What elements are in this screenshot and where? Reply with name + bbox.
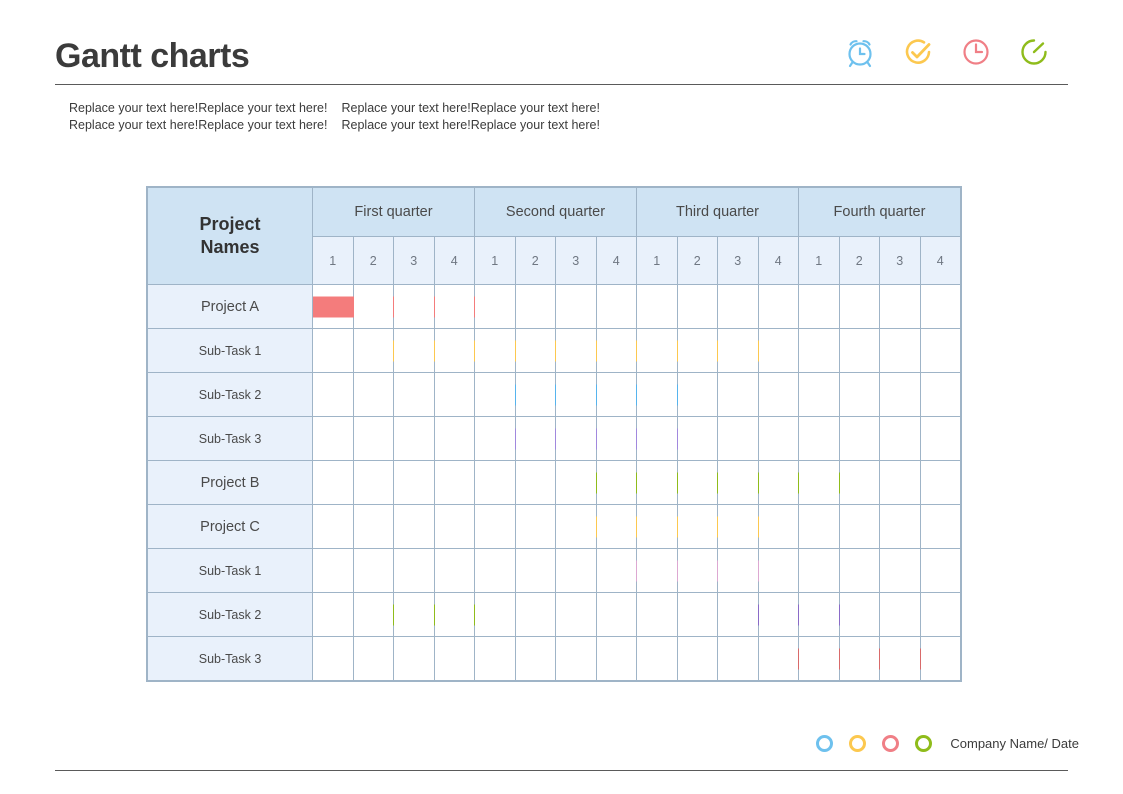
gantt-row: Sub-Task 3 bbox=[148, 417, 961, 461]
quarter-header-row: Project Names First quarter Second quart… bbox=[148, 188, 961, 237]
gantt-cell bbox=[880, 637, 921, 681]
gantt-row: Project A bbox=[148, 285, 961, 329]
gantt-cell bbox=[758, 637, 799, 681]
gantt-cell bbox=[434, 461, 475, 505]
intro-text-block: Replace your text here!Replace your text… bbox=[69, 100, 600, 133]
gantt-cell bbox=[353, 505, 394, 549]
gantt-cell bbox=[758, 549, 799, 593]
gantt-cell bbox=[434, 593, 475, 637]
gantt-cell bbox=[637, 329, 678, 373]
gantt-cell bbox=[839, 593, 880, 637]
gantt-cell bbox=[758, 417, 799, 461]
gantt-cell bbox=[475, 373, 516, 417]
gantt-cell bbox=[920, 329, 961, 373]
gantt-table-body: Project ASub-Task 1Sub-Task 2Sub-Task 3P… bbox=[148, 285, 961, 681]
gantt-cell bbox=[353, 285, 394, 329]
period-header-q4-1: 1 bbox=[799, 237, 840, 285]
gantt-row: Sub-Task 2 bbox=[148, 593, 961, 637]
gantt-cell bbox=[394, 505, 435, 549]
gantt-cell bbox=[839, 373, 880, 417]
gantt-cell bbox=[475, 637, 516, 681]
gantt-row: Project C bbox=[148, 505, 961, 549]
gantt-row-label: Sub-Task 2 bbox=[148, 373, 313, 417]
gantt-cell bbox=[353, 549, 394, 593]
gantt-cell bbox=[839, 505, 880, 549]
gantt-cell bbox=[677, 417, 718, 461]
gantt-cell bbox=[799, 549, 840, 593]
gantt-cell bbox=[758, 593, 799, 637]
gantt-cell bbox=[313, 637, 354, 681]
gantt-cell bbox=[880, 329, 921, 373]
gantt-cell bbox=[556, 461, 597, 505]
gantt-cell bbox=[556, 593, 597, 637]
gantt-cell bbox=[799, 417, 840, 461]
period-header-q2-2: 2 bbox=[515, 237, 556, 285]
gantt-row-label: Project A bbox=[148, 285, 313, 329]
intro-line: Replace your text here!Replace your text… bbox=[341, 117, 599, 134]
gantt-cell bbox=[556, 637, 597, 681]
check-circle-icon bbox=[902, 36, 934, 68]
gantt-cell bbox=[475, 329, 516, 373]
gantt-cell bbox=[718, 329, 759, 373]
gantt-cell bbox=[353, 637, 394, 681]
gantt-cell bbox=[637, 461, 678, 505]
gantt-cell bbox=[880, 505, 921, 549]
gantt-cell bbox=[799, 285, 840, 329]
gantt-cell bbox=[718, 417, 759, 461]
gantt-cell bbox=[394, 417, 435, 461]
gantt-cell bbox=[394, 461, 435, 505]
gantt-cell bbox=[394, 637, 435, 681]
gantt-cell bbox=[920, 285, 961, 329]
header-icon-group bbox=[844, 36, 1050, 68]
period-header-q1-3: 3 bbox=[394, 237, 435, 285]
gantt-cell bbox=[637, 417, 678, 461]
gantt-cell bbox=[920, 637, 961, 681]
intro-line: Replace your text here!Replace your text… bbox=[341, 100, 599, 117]
gantt-cell bbox=[839, 329, 880, 373]
gantt-cell bbox=[434, 505, 475, 549]
gantt-cell bbox=[637, 549, 678, 593]
gantt-row: Project B bbox=[148, 461, 961, 505]
gantt-row-label: Sub-Task 3 bbox=[148, 637, 313, 681]
gantt-row: Sub-Task 1 bbox=[148, 329, 961, 373]
gantt-cell bbox=[475, 505, 516, 549]
footer-divider bbox=[55, 770, 1068, 771]
period-header-q4-4: 4 bbox=[920, 237, 961, 285]
gantt-cell bbox=[353, 461, 394, 505]
gantt-cell bbox=[353, 417, 394, 461]
gantt-cell bbox=[515, 461, 556, 505]
gantt-cell bbox=[313, 417, 354, 461]
gantt-cell bbox=[880, 417, 921, 461]
gantt-cell bbox=[313, 549, 354, 593]
gantt-cell bbox=[313, 285, 354, 329]
gantt-cell bbox=[920, 593, 961, 637]
page-header: Gantt charts bbox=[55, 28, 1068, 84]
gantt-cell bbox=[677, 505, 718, 549]
gantt-cell bbox=[596, 593, 637, 637]
gantt-cell bbox=[556, 329, 597, 373]
gantt-cell bbox=[637, 637, 678, 681]
period-header-q1-4: 4 bbox=[434, 237, 475, 285]
gantt-cell bbox=[718, 505, 759, 549]
gantt-cell bbox=[515, 373, 556, 417]
gantt-cell bbox=[839, 285, 880, 329]
gantt-cell bbox=[758, 373, 799, 417]
gantt-cell bbox=[515, 505, 556, 549]
quarter-header-q3: Third quarter bbox=[637, 188, 799, 237]
footer: Company Name/ Date bbox=[816, 735, 1079, 752]
project-names-header-line2: Names bbox=[148, 236, 312, 259]
gantt-cell bbox=[353, 373, 394, 417]
gantt-cell bbox=[920, 461, 961, 505]
gantt-cell bbox=[394, 329, 435, 373]
gantt-cell bbox=[515, 285, 556, 329]
header-divider bbox=[55, 84, 1068, 85]
gantt-cell bbox=[434, 417, 475, 461]
period-header-q4-2: 2 bbox=[839, 237, 880, 285]
gantt-cell bbox=[637, 285, 678, 329]
gantt-cell bbox=[880, 461, 921, 505]
alarm-clock-icon bbox=[844, 36, 876, 68]
gantt-cell bbox=[596, 285, 637, 329]
gantt-row-label: Sub-Task 1 bbox=[148, 549, 313, 593]
gantt-cell bbox=[880, 549, 921, 593]
gantt-cell bbox=[677, 461, 718, 505]
gantt-cell bbox=[434, 373, 475, 417]
period-header-q3-2: 2 bbox=[677, 237, 718, 285]
period-header-q2-3: 3 bbox=[556, 237, 597, 285]
gantt-cell bbox=[637, 505, 678, 549]
intro-column-2: Replace your text here!Replace your text… bbox=[341, 100, 599, 133]
gantt-cell bbox=[394, 373, 435, 417]
gantt-cell bbox=[313, 373, 354, 417]
gantt-cell bbox=[556, 373, 597, 417]
period-header-q3-1: 1 bbox=[637, 237, 678, 285]
gantt-cell bbox=[596, 417, 637, 461]
gantt-cell bbox=[799, 637, 840, 681]
gantt-cell bbox=[475, 593, 516, 637]
gantt-cell bbox=[515, 637, 556, 681]
gantt-cell bbox=[718, 549, 759, 593]
footer-ring-icon bbox=[849, 735, 866, 752]
footer-ring-icon bbox=[882, 735, 899, 752]
quarter-header-q4: Fourth quarter bbox=[799, 188, 961, 237]
gantt-row-label: Project B bbox=[148, 461, 313, 505]
gantt-cell bbox=[596, 637, 637, 681]
gantt-row-label: Sub-Task 3 bbox=[148, 417, 313, 461]
gantt-row-label: Project C bbox=[148, 505, 313, 549]
quarter-header-q1: First quarter bbox=[313, 188, 475, 237]
gantt-cell bbox=[920, 549, 961, 593]
gantt-cell bbox=[677, 637, 718, 681]
gantt-cell bbox=[515, 593, 556, 637]
gantt-cell bbox=[880, 285, 921, 329]
gantt-cell bbox=[758, 285, 799, 329]
gantt-cell bbox=[637, 373, 678, 417]
gantt-cell bbox=[475, 461, 516, 505]
gantt-cell bbox=[515, 329, 556, 373]
gantt-cell bbox=[475, 549, 516, 593]
footer-ring-icon bbox=[816, 735, 833, 752]
gantt-cell bbox=[799, 593, 840, 637]
gantt-row: Sub-Task 1 bbox=[148, 549, 961, 593]
gantt-cell bbox=[475, 285, 516, 329]
gantt-cell bbox=[313, 461, 354, 505]
gantt-cell bbox=[718, 285, 759, 329]
footer-dot-group bbox=[816, 735, 932, 752]
gantt-cell bbox=[920, 417, 961, 461]
gantt-row-label: Sub-Task 1 bbox=[148, 329, 313, 373]
clock-icon bbox=[960, 36, 992, 68]
gantt-cell bbox=[920, 373, 961, 417]
gantt-cell bbox=[434, 549, 475, 593]
gantt-cell bbox=[394, 285, 435, 329]
intro-line: Replace your text here!Replace your text… bbox=[69, 100, 327, 117]
gantt-cell bbox=[677, 549, 718, 593]
gantt-cell bbox=[839, 549, 880, 593]
gantt-row-label: Sub-Task 2 bbox=[148, 593, 313, 637]
intro-column-1: Replace your text here!Replace your text… bbox=[69, 100, 327, 133]
gantt-cell bbox=[637, 593, 678, 637]
period-header-q1-1: 1 bbox=[313, 237, 354, 285]
period-header-q1-2: 2 bbox=[353, 237, 394, 285]
gantt-cell bbox=[313, 329, 354, 373]
gantt-cell bbox=[799, 329, 840, 373]
stopwatch-icon bbox=[1018, 36, 1050, 68]
period-header-q2-1: 1 bbox=[475, 237, 516, 285]
gantt-cell bbox=[596, 505, 637, 549]
project-names-header-line1: Project bbox=[148, 213, 312, 236]
gantt-cell bbox=[596, 373, 637, 417]
gantt-cell bbox=[920, 505, 961, 549]
quarter-header-q2: Second quarter bbox=[475, 188, 637, 237]
gantt-cell bbox=[434, 637, 475, 681]
gantt-cell bbox=[394, 549, 435, 593]
gantt-cell bbox=[718, 461, 759, 505]
gantt-cell bbox=[718, 373, 759, 417]
gantt-cell bbox=[839, 461, 880, 505]
gantt-cell bbox=[718, 593, 759, 637]
gantt-cell bbox=[839, 637, 880, 681]
gantt-cell bbox=[758, 505, 799, 549]
gantt-cell bbox=[313, 593, 354, 637]
period-header-q2-4: 4 bbox=[596, 237, 637, 285]
company-label: Company Name/ Date bbox=[950, 736, 1079, 751]
gantt-cell bbox=[596, 549, 637, 593]
gantt-cell bbox=[677, 329, 718, 373]
gantt-cell bbox=[353, 593, 394, 637]
intro-line: Replace your text here!Replace your text… bbox=[69, 117, 327, 134]
period-header-q4-3: 3 bbox=[880, 237, 921, 285]
gantt-cell bbox=[799, 373, 840, 417]
gantt-cell bbox=[394, 593, 435, 637]
gantt-cell bbox=[353, 329, 394, 373]
gantt-cell bbox=[677, 373, 718, 417]
gantt-cell bbox=[596, 329, 637, 373]
gantt-cell bbox=[556, 549, 597, 593]
gantt-cell bbox=[677, 593, 718, 637]
period-header-q3-3: 3 bbox=[718, 237, 759, 285]
gantt-cell bbox=[799, 505, 840, 549]
gantt-row: Sub-Task 2 bbox=[148, 373, 961, 417]
gantt-cell bbox=[313, 505, 354, 549]
gantt-cell bbox=[677, 285, 718, 329]
gantt-row: Sub-Task 3 bbox=[148, 637, 961, 681]
gantt-cell bbox=[556, 417, 597, 461]
gantt-cell bbox=[880, 373, 921, 417]
gantt-table: Project Names First quarter Second quart… bbox=[147, 187, 961, 681]
gantt-cell bbox=[515, 549, 556, 593]
gantt-cell bbox=[839, 417, 880, 461]
gantt-cell bbox=[515, 417, 556, 461]
gantt-cell bbox=[434, 285, 475, 329]
gantt-cell bbox=[556, 505, 597, 549]
gantt-cell bbox=[596, 461, 637, 505]
gantt-cell bbox=[718, 637, 759, 681]
footer-ring-icon bbox=[915, 735, 932, 752]
gantt-table-head: Project Names First quarter Second quart… bbox=[148, 188, 961, 285]
period-header-q3-4: 4 bbox=[758, 237, 799, 285]
gantt-cell bbox=[758, 461, 799, 505]
gantt-cell bbox=[880, 593, 921, 637]
gantt-chart: Project Names First quarter Second quart… bbox=[146, 186, 962, 682]
gantt-cell bbox=[758, 329, 799, 373]
gantt-cell bbox=[475, 417, 516, 461]
gantt-cell bbox=[799, 461, 840, 505]
gantt-cell bbox=[434, 329, 475, 373]
project-names-header: Project Names bbox=[148, 188, 313, 285]
gantt-cell bbox=[556, 285, 597, 329]
